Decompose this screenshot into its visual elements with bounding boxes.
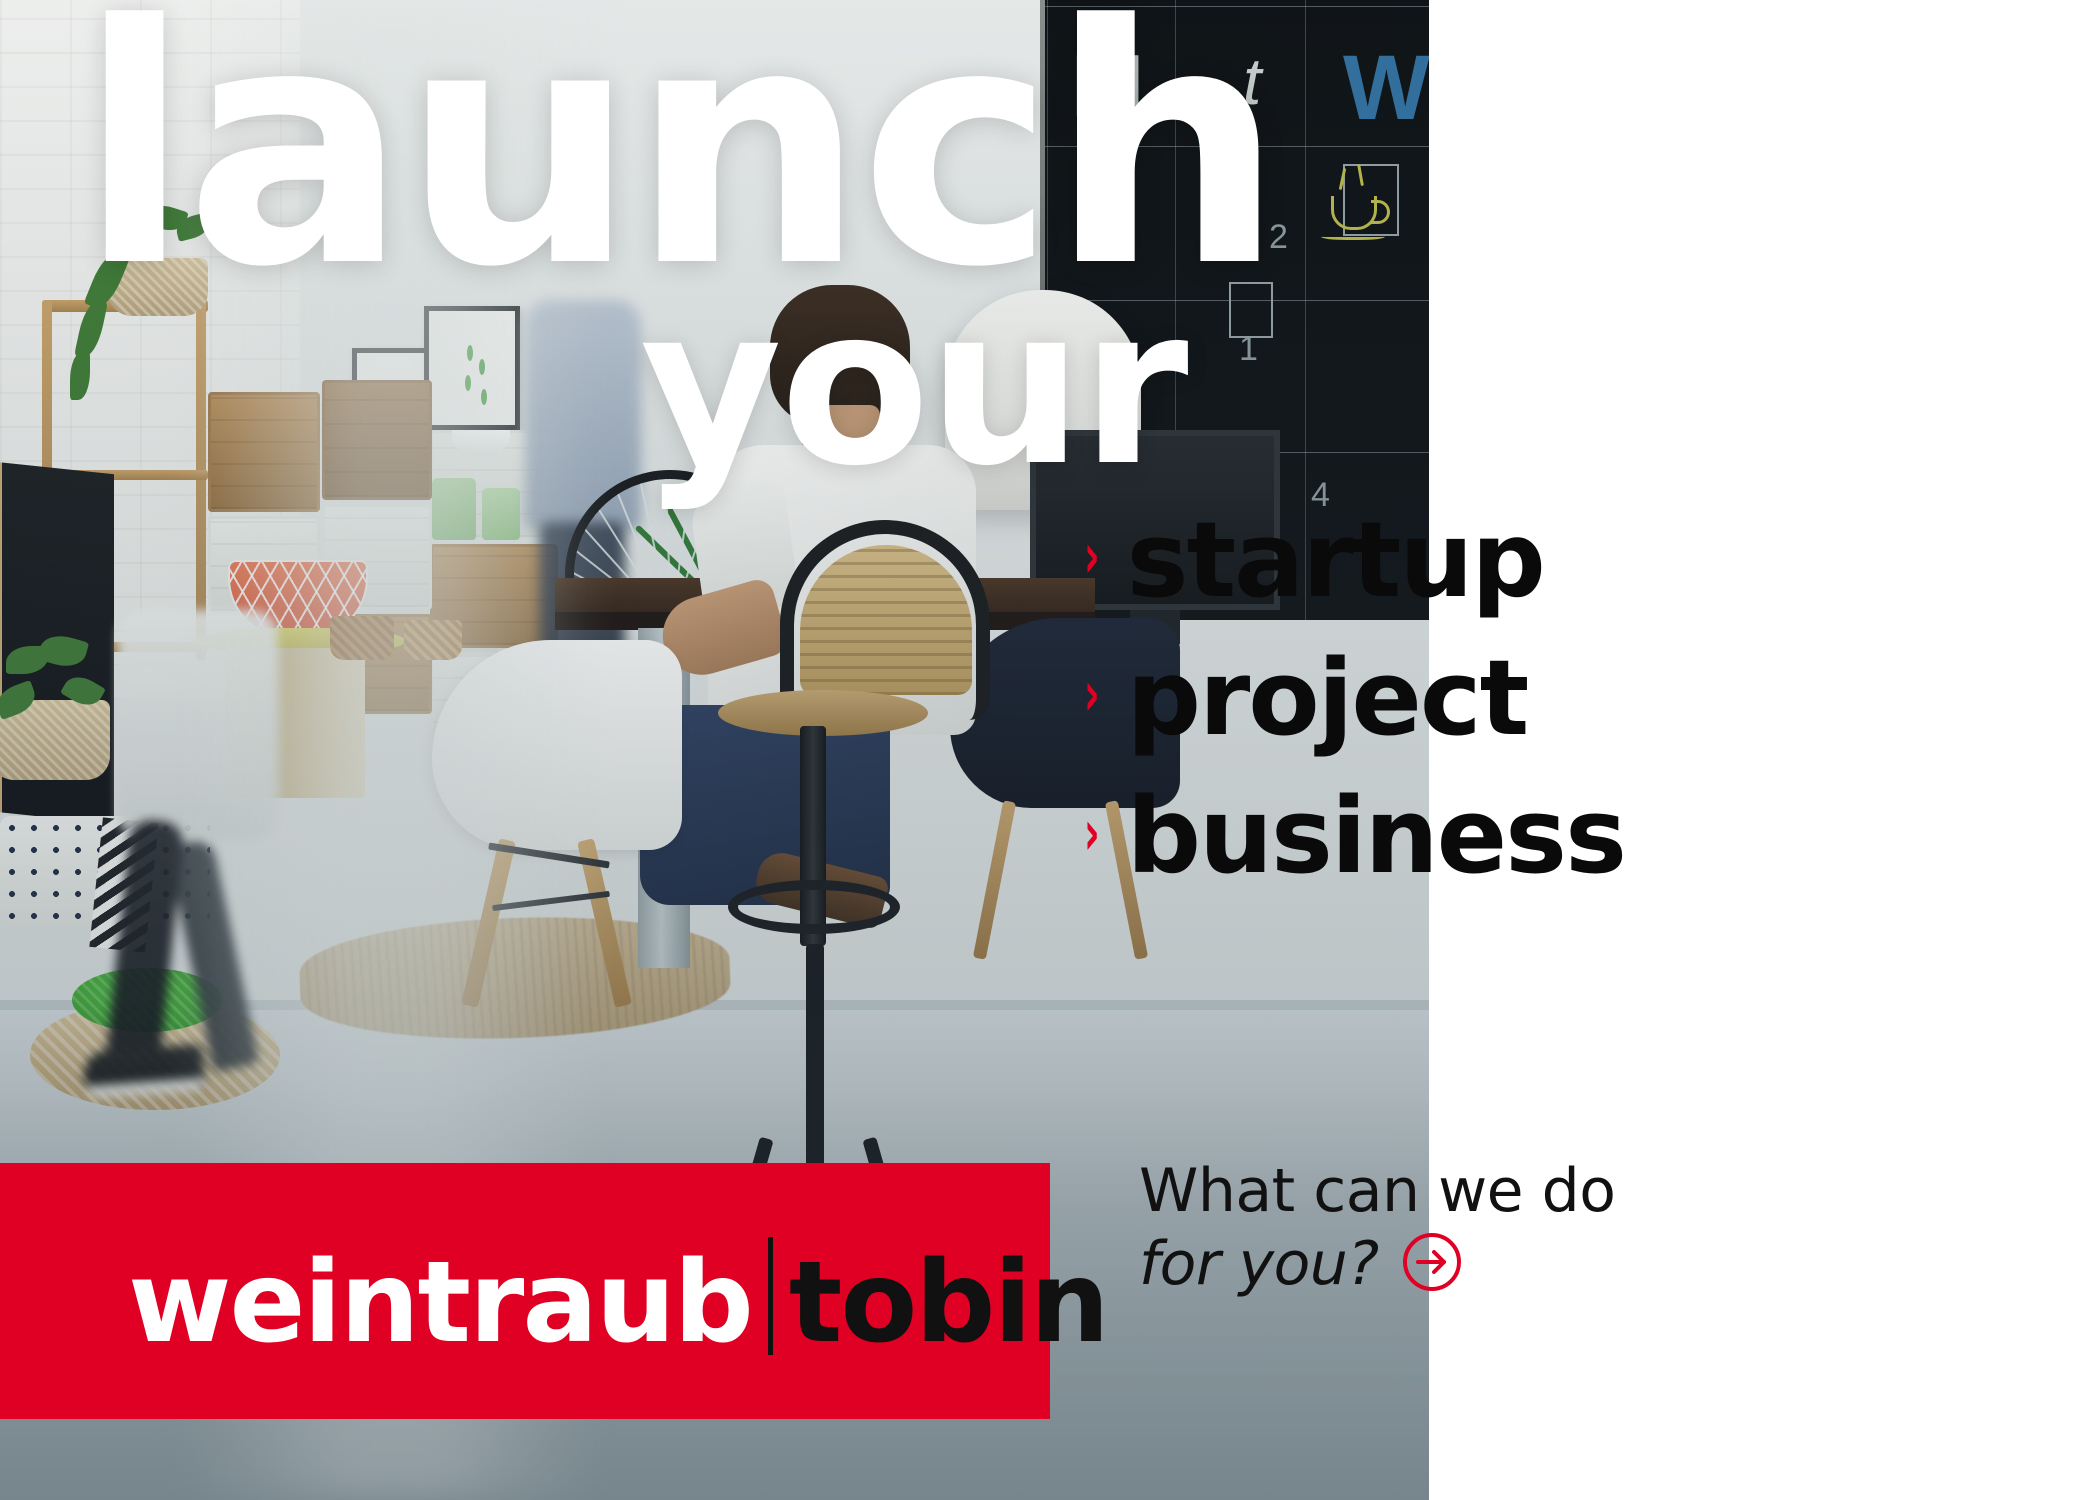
coffee-cup-icon <box>1331 196 1377 230</box>
wall-picture-frame <box>424 306 520 430</box>
logo-secondary-word: tobin <box>789 1247 1108 1359</box>
cta-line-1: What can we do <box>1139 1158 1839 1225</box>
service-item-startup[interactable]: › startup <box>1079 505 2099 615</box>
right-content-panel: › startup › project › business What can … <box>1429 0 2100 1500</box>
stool-footring <box>728 880 900 934</box>
service-label-project: project <box>1127 643 1528 753</box>
chevron-right-icon: › <box>1084 663 1100 725</box>
coffee-saucer <box>1321 232 1385 240</box>
chalk-letter-m: M <box>1071 42 1144 130</box>
service-label-startup: startup <box>1127 505 1544 615</box>
chalk-frame <box>1229 282 1273 338</box>
cta-line-2: for you? <box>1139 1231 1379 1298</box>
white-chair <box>432 640 682 850</box>
circle-arrow-right-icon[interactable] <box>1401 1231 1463 1298</box>
logo-primary-word: weintraub <box>128 1247 752 1359</box>
brand-logo-banner[interactable]: weintraub tobin <box>0 1163 1050 1419</box>
logo-lockup: weintraub tobin <box>128 1223 1108 1359</box>
advertisement-canvas: M t W 2 9 1 4 2 <box>0 0 2100 1500</box>
service-item-project[interactable]: › project <box>1079 643 2099 753</box>
wicker-basket <box>404 620 462 660</box>
service-label-business: business <box>1127 781 1625 891</box>
logo-divider-bar <box>768 1237 773 1355</box>
chalk-letter-t: t <box>1243 48 1261 114</box>
chevron-right-icon: › <box>1084 525 1100 587</box>
chevron-right-icon: › <box>1084 802 1100 864</box>
storage-crate <box>322 380 432 500</box>
green-canister <box>482 488 520 540</box>
wicker-basket <box>330 616 394 660</box>
chalk-letter-w: W <box>1343 42 1429 134</box>
service-list: › startup › project › business <box>1079 505 2099 920</box>
chalk-number: 2 <box>1269 218 1288 257</box>
blurred-walking-person <box>60 760 300 1140</box>
green-canister <box>432 478 476 540</box>
storage-crate <box>208 392 320 512</box>
shelf-post <box>196 300 206 660</box>
cta-line-2-row: for you? <box>1139 1231 1839 1298</box>
call-to-action[interactable]: What can we do for you? <box>1139 1158 1839 1298</box>
lamp-cord <box>1040 0 1045 300</box>
service-item-business[interactable]: › business <box>1079 781 2099 891</box>
